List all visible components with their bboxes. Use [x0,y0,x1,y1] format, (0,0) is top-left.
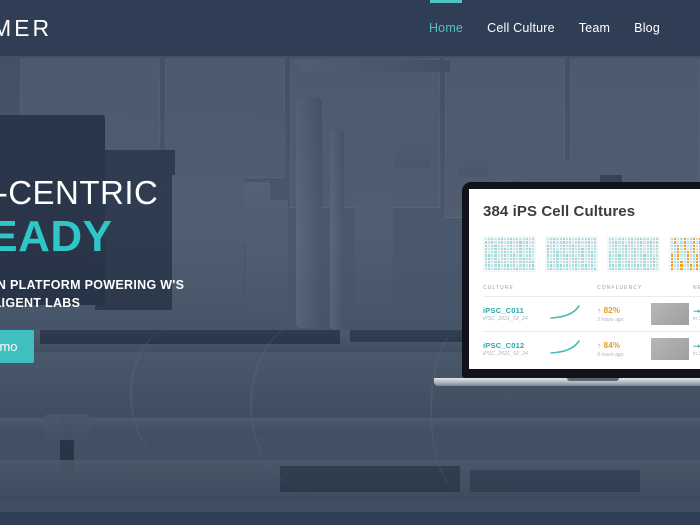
plate-well [693,248,695,250]
plate-well [637,248,639,250]
plate-well [625,245,627,247]
main-nav: Home Cell Culture Team Blog [429,17,684,39]
plate-well [690,238,692,240]
plate-well [578,248,580,250]
plate-well [507,248,509,250]
culture-id: iPSC_2021_02_24 [483,351,549,357]
plate-well [637,264,639,266]
plate-well [494,258,496,260]
plate-well [504,245,506,247]
plate-well [566,248,568,250]
plate-well [488,245,490,247]
plate-well [491,245,493,247]
plate-well [650,258,652,260]
plate-well [591,238,593,240]
plate-well [677,254,679,256]
plate-well [687,258,689,260]
plate-well [618,245,620,247]
plate-heatmap-4[interactable] [669,236,700,272]
plate-well [488,238,490,240]
plate-well [532,248,534,250]
confluency-cell: ↑ 84% 3 hours ago [597,341,651,358]
plate-well [631,254,633,256]
plate-well [684,268,686,270]
plate-well [526,241,528,243]
plate-well [563,245,565,247]
sparkline-icon [549,304,589,320]
plate-well [612,254,614,256]
plate-well [615,254,617,256]
plate-well [671,248,673,250]
plate-well [693,264,695,266]
trend-cell [549,304,597,325]
plate-well [529,264,531,266]
plate-well [674,254,676,256]
plate-well [684,261,686,263]
arrow-right-icon: ➞ [693,307,700,316]
plate-well [569,268,571,270]
plate-well [556,258,558,260]
plate-well [510,261,512,263]
plate-well [553,251,555,253]
plate-well [628,241,630,243]
plate-well [572,245,574,247]
plate-well [690,241,692,243]
plate-well [578,251,580,253]
plate-well [647,245,649,247]
plate-well [653,245,655,247]
plate-well [532,251,534,253]
plate-well [550,264,552,266]
plate-well [523,254,525,256]
plate-well [684,254,686,256]
plate-well [622,258,624,260]
plate-well [612,258,614,260]
plate-well [640,254,642,256]
plate-well [566,251,568,253]
plate-well [553,264,555,266]
plate-well [572,254,574,256]
plate-well [671,254,673,256]
plate-well [594,245,596,247]
plate-well [591,254,593,256]
plate-well [578,241,580,243]
culture-thumbnail[interactable] [651,338,689,360]
plate-well [526,264,528,266]
plate-well [532,245,534,247]
plate-well [680,238,682,240]
plate-well [625,268,627,270]
plate-well [643,245,645,247]
confluency-updated: 3 hours ago [597,352,651,358]
plate-well [650,241,652,243]
plate-well [684,238,686,240]
plate-well [696,241,698,243]
plate-well [507,241,509,243]
plate-well [526,238,528,240]
plate-well [634,264,636,266]
plate-well [640,261,642,263]
plate-well [578,258,580,260]
plate-well [510,264,512,266]
plate-well [690,258,692,260]
plate-well [485,238,487,240]
plate-well [637,245,639,247]
plate-well [687,254,689,256]
plate-well [513,258,515,260]
plate-well [501,261,503,263]
plate-well [612,245,614,247]
plate-well [674,245,676,247]
plate-well [529,261,531,263]
plate-well [560,245,562,247]
plate-well [674,258,676,260]
plate-well [578,254,580,256]
plate-well [510,248,512,250]
hero-headline-secondary: READY [0,213,226,261]
plate-well [591,245,593,247]
plate-well [523,241,525,243]
plate-well [560,261,562,263]
plate-well [488,254,490,256]
plate-well [526,251,528,253]
plate-well [510,258,512,260]
plate-well [575,241,577,243]
plate-well [647,261,649,263]
plate-well [585,238,587,240]
plate-well [680,248,682,250]
site-logo[interactable]: MER [0,15,52,42]
plate-well [501,264,503,266]
plate-well [516,261,518,263]
plate-well [581,261,583,263]
plate-well [563,261,565,263]
plate-well [529,238,531,240]
plate-well [494,238,496,240]
plate-well [684,245,686,247]
plate-well [594,248,596,250]
table-row[interactable]: iPSC_C012 iPSC_2021_02_24 ↑ 84% 3 hours … [483,331,700,366]
plate-well [615,261,617,263]
plate-well [671,258,673,260]
confluency-value: ↑ 82% [597,306,651,315]
plate-well [677,258,679,260]
plate-well [519,261,521,263]
plate-well [631,264,633,266]
plate-well [615,241,617,243]
plate-well [569,245,571,247]
plate-well [550,251,552,253]
sparkline-icon [549,339,589,355]
plate-heatmap-2[interactable] [545,236,598,272]
plate-well [501,268,503,270]
plate-well [504,238,506,240]
plate-well [516,245,518,247]
nav-item-home[interactable]: Home [429,17,463,39]
plate-well [498,261,500,263]
plate-well [556,241,558,243]
plate-well [550,254,552,256]
plate-well [547,248,549,250]
column-header-next: NEXT P [693,285,700,291]
plate-well [690,254,692,256]
plate-well [572,238,574,240]
plate-well [612,264,614,266]
plate-well [588,264,590,266]
plate-well [634,251,636,253]
plate-well [656,268,658,270]
plate-well [625,238,627,240]
plate-well [563,248,565,250]
plate-well [696,258,698,260]
plate-well [609,241,611,243]
plate-well [693,254,695,256]
plate-well [693,268,695,270]
plate-well [491,258,493,260]
plate-well [488,261,490,263]
plate-well [618,261,620,263]
plate-well [504,248,506,250]
plate-well [674,264,676,266]
plate-well [547,238,549,240]
plate-well [650,254,652,256]
plate-well [637,251,639,253]
plate-well [634,241,636,243]
plate-well [653,258,655,260]
plate-well [556,261,558,263]
plate-well [612,268,614,270]
plate-well [615,238,617,240]
plate-well [609,261,611,263]
plate-well [585,241,587,243]
plate-well [494,245,496,247]
plate-well [615,264,617,266]
plate-well [507,258,509,260]
plate-well [507,268,509,270]
plate-well [656,241,658,243]
plate-well [501,248,503,250]
plate-well [498,254,500,256]
plate-well [647,251,649,253]
plate-well [556,248,558,250]
culture-name: iPSC_C012 [483,341,549,350]
plate-well [491,251,493,253]
plate-well [485,241,487,243]
plate-well [637,254,639,256]
plate-well [488,258,490,260]
plate-well [674,248,676,250]
culture-table-header: CULTURE CONFLUENCY NEXT P [483,285,700,296]
plate-well [507,245,509,247]
plate-well [513,268,515,270]
plate-well [526,261,528,263]
plate-well [547,241,549,243]
plate-well [588,248,590,250]
plate-well [510,251,512,253]
plate-well [643,248,645,250]
plate-well [581,264,583,266]
plate-well [631,261,633,263]
plate-well [671,238,673,240]
plate-well [491,248,493,250]
plate-well [634,248,636,250]
plate-well [693,258,695,260]
plate-heatmap-3[interactable] [607,236,660,272]
plate-well [575,251,577,253]
plate-well [569,238,571,240]
plate-well [585,264,587,266]
plate-well [578,238,580,240]
plate-well [529,268,531,270]
plate-well [628,254,630,256]
plate-well [696,268,698,270]
plate-well [650,251,652,253]
plate-well [513,261,515,263]
plate-well [569,248,571,250]
nav-item-cell-culture[interactable]: Cell Culture [487,17,555,39]
plate-well [631,248,633,250]
plate-well [488,264,490,266]
plate-well [494,251,496,253]
culture-cell: iPSC_C012 iPSC_2021_02_24 [483,341,549,357]
plate-well [566,241,568,243]
plate-well [684,248,686,250]
plate-well [572,258,574,260]
plate-well [687,238,689,240]
plate-well [532,258,534,260]
plate-well [656,258,658,260]
plate-well [634,261,636,263]
plate-well [560,268,562,270]
plate-well [529,258,531,260]
plate-well [498,251,500,253]
plate-well [585,254,587,256]
plate-well [523,261,525,263]
column-header-confluency: CONFLUENCY [597,285,651,291]
plate-well [677,268,679,270]
plate-well [680,254,682,256]
plate-well [612,251,614,253]
plate-well [491,264,493,266]
plate-well [523,264,525,266]
next-passage-cell: ➞ P in 30 [693,307,700,322]
plate-well [591,251,593,253]
plate-well [498,264,500,266]
plate-well [653,268,655,270]
trend-cell [549,339,597,360]
confluency-value: ↑ 84% [597,341,651,350]
plate-well [494,268,496,270]
next-passage-eta: in 30 [693,316,700,322]
plate-well [513,264,515,266]
confluency-cell: ↑ 82% 3 hours ago [597,306,651,323]
plate-well [504,261,506,263]
plate-well [566,258,568,260]
plate-well [628,268,630,270]
plate-well [656,264,658,266]
plate-well [523,258,525,260]
plate-well [643,241,645,243]
plate-well [671,241,673,243]
plate-well [618,264,620,266]
plate-well [516,268,518,270]
plate-well [585,258,587,260]
plate-well [529,248,531,250]
plate-well [618,241,620,243]
plate-well [547,251,549,253]
plate-well [680,261,682,263]
plate-well [532,254,534,256]
plate-well [690,268,692,270]
plate-well [494,254,496,256]
nav-item-team[interactable]: Team [579,17,610,39]
plate-well [680,268,682,270]
plate-well [622,245,624,247]
plate-well [504,264,506,266]
plate-well [575,248,577,250]
plate-well [553,245,555,247]
plate-well [513,245,515,247]
plate-well [671,251,673,253]
plate-well [618,258,620,260]
plate-well [637,258,639,260]
plate-well [647,258,649,260]
plate-heatmap-1[interactable] [483,236,536,272]
plate-well [622,268,624,270]
plate-well [622,251,624,253]
plate-well [609,245,611,247]
plate-well [547,245,549,247]
plate-well [609,238,611,240]
nav-item-blog[interactable]: Blog [634,17,660,39]
plate-well [547,261,549,263]
plate-well [513,241,515,243]
plate-well [680,245,682,247]
plate-well [696,248,698,250]
plate-well [585,245,587,247]
plate-well [491,268,493,270]
plate-well [501,251,503,253]
plate-well [553,258,555,260]
plate-well [656,261,658,263]
plate-well [640,245,642,247]
plate-well [581,238,583,240]
hero-subcopy: MATION PLATFORM POWERING W'S INTELLIGENT… [0,276,206,312]
plate-well [680,264,682,266]
plate-well [519,264,521,266]
next-passage-cell: ➞ P in 36 [693,342,700,357]
plate-well [594,241,596,243]
plate-well [625,264,627,266]
plate-well [653,241,655,243]
plate-well [569,261,571,263]
culture-thumbnail[interactable] [651,303,689,325]
plate-well [594,264,596,266]
plate-well [634,254,636,256]
plate-well [510,241,512,243]
plate-well [563,264,565,266]
table-row[interactable]: iPSC_C011 iPSC_2021_02_24 ↑ 82% 3 hours … [483,296,700,331]
plate-well [513,248,515,250]
column-header-image [651,285,693,291]
plate-well [643,261,645,263]
plate-well [640,241,642,243]
plate-well [566,238,568,240]
plate-well [594,238,596,240]
plate-well [572,248,574,250]
plate-well [566,245,568,247]
book-demo-button[interactable]: a Demo [0,330,34,363]
